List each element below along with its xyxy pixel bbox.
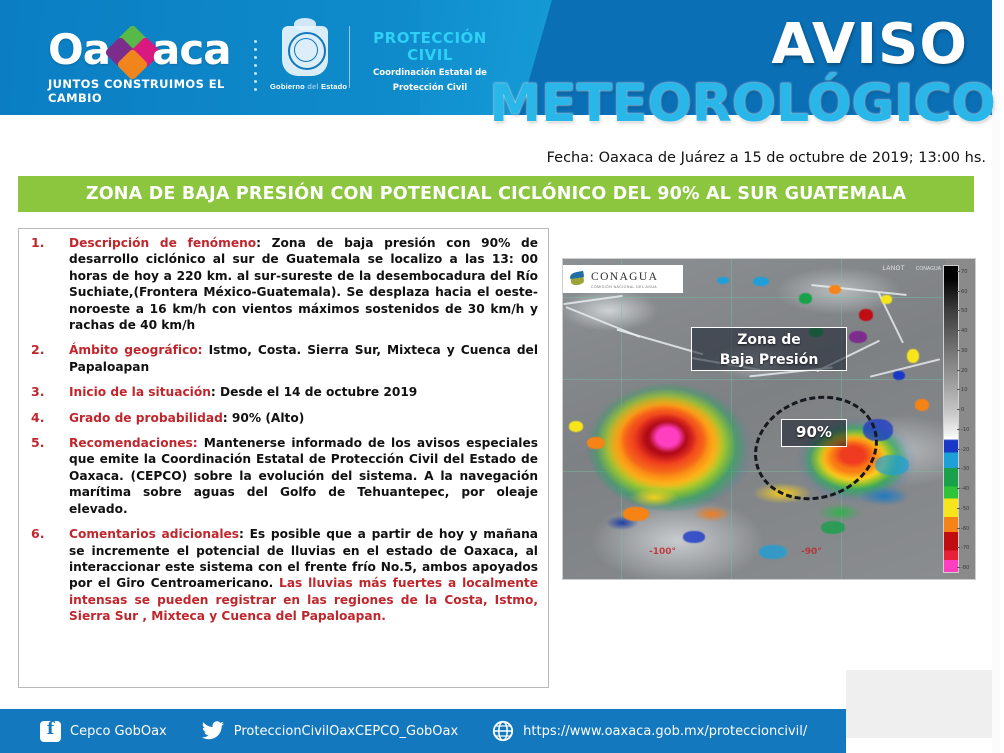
seal-graphic-icon [278,22,332,80]
lanot-watermark: LANOT [882,266,905,272]
scale-tick-label: 20 [961,368,968,374]
cloud-cell [849,331,867,343]
conagua-watermark: CONAGUA [916,266,941,272]
low-pressure-zone-label-line-2: Baja Presión [692,350,846,370]
advisory-item-3-number: 3. [31,384,57,400]
proteccion-civil-block: PROTECCIÓN CIVIL Coordinación Estatal de… [360,30,500,94]
scale-tick-label: -20 [961,447,969,453]
oaxaca-word-part-2: aca [152,28,231,72]
advisory-item-1: 1.Descripción de fenómeno: Zona de baja … [25,235,538,333]
cloud-cell [569,421,583,432]
advisory-item-3-body: : Desde el 14 de octubre 2019 [211,385,417,399]
advisory-banner: ZONA DE BAJA PRESIÓN CON POTENCIAL CICLÓ… [18,176,974,212]
conagua-subtitle: COMISIÓN NACIONAL DEL AGUA [591,286,658,289]
globe-icon[interactable] [492,720,514,742]
advisory-item-2-number: 2. [31,342,57,358]
oaxaca-tagline: JUNTOS CONSTRUIMOS EL CAMBIO [48,77,248,105]
advisory-item-2: 2.Ámbito geográfico: Istmo, Costa. Sierr… [25,342,538,375]
advisory-item-5: 5.Recomendaciones: Mantenerse informado … [25,435,538,517]
oaxaca-diamond-icon [110,32,158,74]
cloud-cell [623,507,649,521]
advisory-item-6-label: Comentarios adicionales [69,527,239,541]
convective-band-south [603,471,923,545]
cloud-cell [829,285,841,294]
scale-tick-label: 60 [961,289,968,295]
advisory-item-2-label: Ámbito geográfico: [69,343,203,357]
proteccion-civil-subtitle-1: Coordinación Estatal de [360,68,500,79]
cloud-cell [907,349,919,363]
scale-tick-label: 0 [961,407,964,413]
website-url[interactable]: https://www.oaxaca.gob.mx/proteccioncivi… [523,724,807,739]
advisory-item-list: 1.Descripción de fenómeno: Zona de baja … [25,235,538,625]
coordinate-label-right: -90° [801,547,822,557]
cloud-cell [875,455,909,475]
seal-caption-part-3: Estado [321,82,347,91]
advisory-page: Oa aca JUNTOS CONSTRUIMOS EL CAMBIO [0,0,1004,753]
oaxaca-wordmark: Oa aca [48,30,248,74]
cloud-cell [587,437,605,449]
scale-tick-label: -40 [961,486,969,492]
advisory-item-4-label: Grado de probabilidad [69,411,223,425]
scale-tick-label: -30 [961,466,969,472]
advisory-text-box: 1.Descripción de fenómeno: Zona de baja … [18,228,549,688]
seal-inner-ring-icon [294,38,318,62]
cloud-cell [893,371,905,380]
proteccion-civil-subtitle-2: Protección Civil [360,83,500,94]
scale-tick-label: 10 [961,387,968,393]
satellite-image-panel: CONAGUA COMISIÓN NACIONAL DEL AGUA LANOT… [562,258,976,580]
advisory-item-4: 4.Grado de probabilidad: 90% (Alto) [25,410,538,426]
coordinate-label-left: -100° [649,547,676,557]
proteccion-civil-title-1: PROTECCIÓN [360,30,500,47]
proteccion-civil-title-2: CIVIL [360,47,500,64]
conagua-logo: CONAGUA COMISIÓN NACIONAL DEL AGUA [563,265,683,293]
low-pressure-zone-label-line-1: Zona de [692,330,846,350]
scale-tick-label: 40 [961,328,968,334]
advisory-banner-text: ZONA DE BAJA PRESIÓN CON POTENCIAL CICLÓ… [86,184,906,204]
date-line: Fecha: Oaxaca de Juárez a 15 de octubre … [547,150,986,166]
scale-tick-label: -70 [961,545,969,551]
footer-twitter[interactable]: ProteccionCivilOaxCEPCO_GobOax [201,721,458,741]
oaxaca-logo: Oa aca JUNTOS CONSTRUIMOS EL CAMBIO [48,30,248,92]
page-footer: Cepco GobOax ProteccionCivilOaxCEPCO_Gob… [0,709,846,753]
scale-tick-label: -50 [961,506,969,512]
cloud-cell [759,545,787,559]
document-title-line-1: AVISO [771,18,968,72]
scale-tick-label: 30 [961,348,968,354]
conagua-name: CONAGUA [591,271,658,283]
header-vertical-divider [349,26,350,88]
page-right-edge [1000,0,1004,753]
cloud-cell [881,295,892,304]
scale-tick-label: -10 [961,427,969,433]
advisory-item-5-label: Recomendaciones: [69,436,198,450]
document-title-line-2: METEOROLÓGICO [489,76,996,132]
advisory-item-4-body: : 90% (Alto) [223,411,304,425]
advisory-item-1-body: : Zona de baja presión con 90% de desarr… [69,236,538,332]
footer-facebook[interactable]: Cepco GobOax [40,721,167,742]
oaxaca-word-part-1: Oa [48,28,110,72]
probability-label: 90% [781,419,847,447]
scale-tick-label: -80 [961,565,969,571]
advisory-item-1-label: Descripción de fenómeno [69,236,256,250]
seal-caption-part-1: Gobierno [270,82,305,91]
temperature-scale-ticks: 706050403020100-10-20-30-40-50-60-70-80 [959,265,975,571]
twitter-icon[interactable] [201,721,225,741]
government-seal: Gobierno del Estado [270,22,340,104]
cloud-cell [821,521,845,534]
scale-tick-label: 50 [961,308,968,314]
advisory-item-5-number: 5. [31,435,57,451]
satellite-map-canvas: CONAGUA COMISIÓN NACIONAL DEL AGUA LANOT… [563,259,945,579]
cloud-cell [717,277,729,284]
cloud-cell [799,293,812,304]
cloud-cell [683,531,705,543]
twitter-handle[interactable]: ProteccionCivilOaxCEPCO_GobOax [234,724,458,739]
cloud-cell [753,277,769,286]
scale-tick-label: 70 [961,269,968,275]
facebook-icon[interactable] [40,721,61,742]
scale-tick-label: -60 [961,526,969,532]
cloud-cell [859,309,873,321]
advisory-item-4-number: 4. [31,410,57,426]
advisory-item-6-number: 6. [31,526,57,542]
cloud-cell [915,399,929,411]
advisory-item-6: 6.Comentarios adicionales: Es posible qu… [25,526,538,624]
seal-caption: Gobierno del Estado [270,82,340,91]
satellite-image: CONAGUA COMISIÓN NACIONAL DEL AGUA LANOT… [563,259,975,579]
low-pressure-zone-label: Zona de Baja Presión [691,327,847,371]
advisory-item-3-label: Inicio de la situación [69,385,211,399]
conagua-mark-icon [569,271,586,288]
facebook-handle[interactable]: Cepco GobOax [70,724,167,739]
footer-website[interactable]: https://www.oaxaca.gob.mx/proteccioncivi… [492,720,807,742]
advisory-item-1-number: 1. [31,235,57,251]
bottom-right-grey-panel [846,670,997,738]
seal-caption-part-2: del [307,82,318,91]
advisory-item-3: 3.Inicio de la situación: Desde el 14 de… [25,384,538,400]
header-dot-separator [254,40,258,86]
